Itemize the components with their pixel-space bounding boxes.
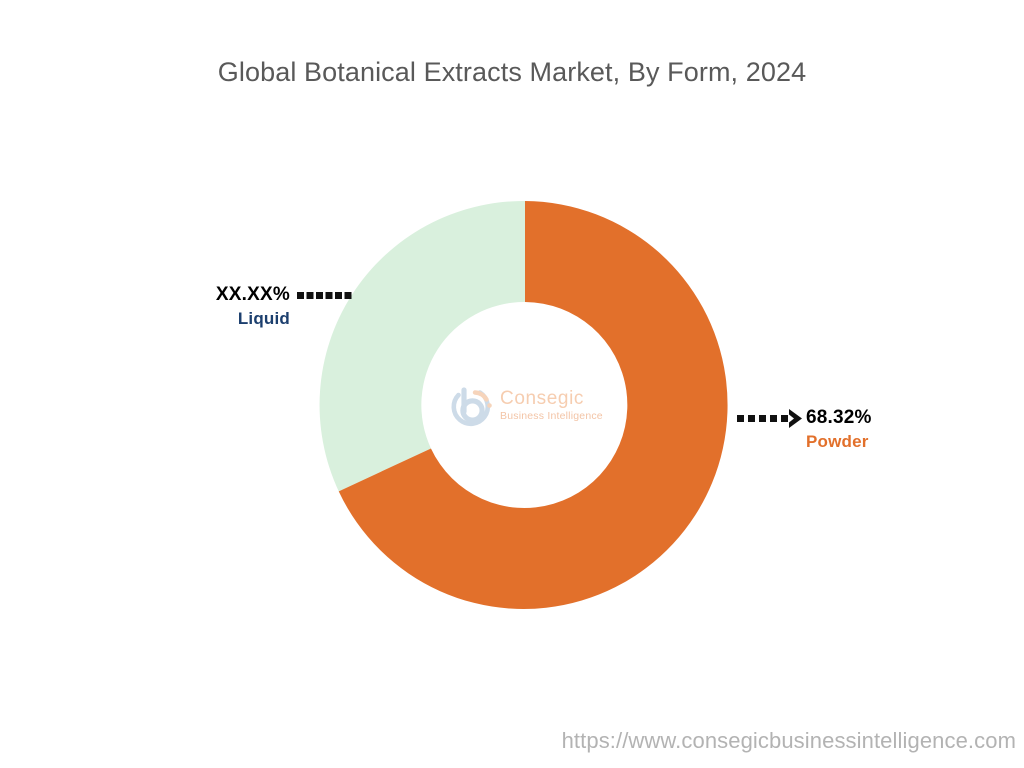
leader-line-liquid: [297, 292, 352, 299]
callout-powder-category: Powder: [806, 430, 1006, 453]
leader-arrowhead-powder: [789, 409, 802, 428]
callout-powder: 68.32% Powder: [806, 406, 1006, 453]
callout-liquid-percent: XX.XX%: [118, 283, 290, 307]
callout-powder-percent: 68.32%: [806, 406, 1006, 430]
footer-url[interactable]: https://www.consegicbusinessintelligence…: [562, 728, 1016, 754]
chart-canvas: Global Botanical Extracts Market, By For…: [0, 0, 1024, 768]
callout-liquid: XX.XX% Liquid: [118, 283, 290, 330]
donut-slice-liquid[interactable]: [320, 201, 525, 491]
donut-chart-svg: [0, 0, 1024, 768]
callout-liquid-category: Liquid: [118, 307, 290, 330]
leader-line-powder: [737, 415, 788, 422]
